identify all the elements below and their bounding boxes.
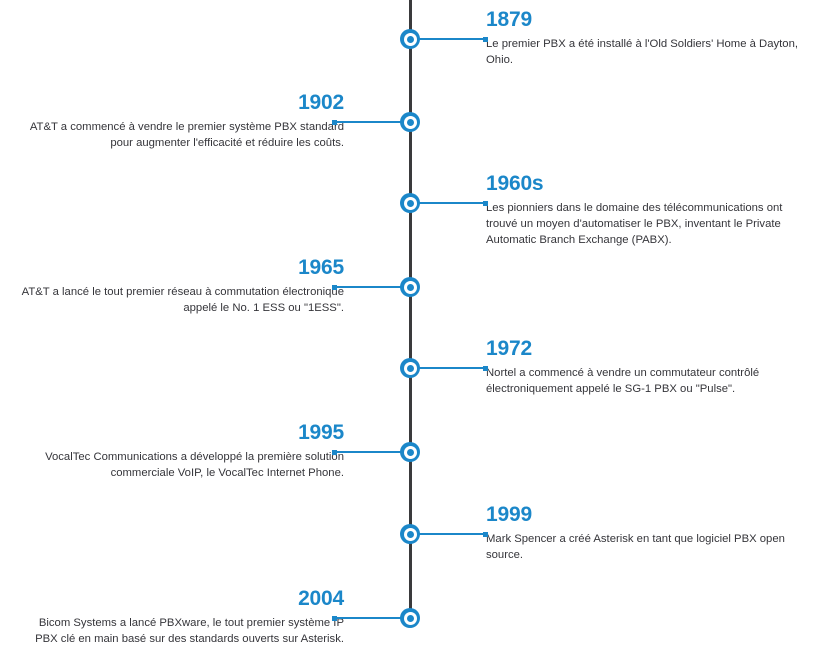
timeline-connector-1879 [410,38,488,40]
timeline-connector-2004 [332,617,410,619]
timeline-node-2004[interactable] [400,608,420,628]
node-center-dot-icon [407,200,414,207]
timeline-node-1965[interactable] [400,277,420,297]
entry-description: Bicom Systems a lancé PBXware, le tout p… [14,615,344,647]
node-ring-gap [404,612,417,625]
entry-year-label: 1879 [486,9,816,31]
connector-cap-icon [483,37,488,42]
timeline-entry-1960s: 1960sLes pionniers dans le domaine des t… [486,173,816,248]
node-ring-gap [404,116,417,129]
node-center-dot-icon [407,449,414,456]
connector-cap-icon [483,366,488,371]
timeline-connector-1960s [410,202,488,204]
node-center-dot-icon [407,119,414,126]
node-center-dot-icon [407,531,414,538]
timeline-connector-1965 [332,286,410,288]
entry-description: Nortel a commencé à vendre un commutateu… [486,365,816,397]
entry-description: Le premier PBX a été installé à l'Old So… [486,36,816,68]
connector-cap-icon [483,201,488,206]
entry-year-label: 2004 [14,588,344,610]
timeline-infographic: 1879Le premier PBX a été installé à l'Ol… [0,0,830,668]
entry-description: VocalTec Communications a développé la p… [14,449,344,481]
timeline-node-1999[interactable] [400,524,420,544]
timeline-connector-1902 [332,121,410,123]
entry-description: Mark Spencer a créé Asterisk en tant que… [486,531,816,563]
node-center-dot-icon [407,365,414,372]
connector-cap-icon [332,120,337,125]
node-ring-gap [404,197,417,210]
timeline-entry-2004: 2004Bicom Systems a lancé PBXware, le to… [14,588,344,647]
timeline-connector-1999 [410,533,488,535]
connector-cap-icon [332,285,337,290]
entry-year-label: 1965 [14,257,344,279]
timeline-node-1972[interactable] [400,358,420,378]
timeline-connector-1972 [410,367,488,369]
node-center-dot-icon [407,284,414,291]
connector-cap-icon [332,450,337,455]
entry-year-label: 1902 [14,92,344,114]
node-center-dot-icon [407,36,414,43]
timeline-connector-1995 [332,451,410,453]
timeline-entry-1879: 1879Le premier PBX a été installé à l'Ol… [486,9,816,68]
timeline-node-1879[interactable] [400,29,420,49]
entry-year-label: 1999 [486,504,816,526]
timeline-node-1995[interactable] [400,442,420,462]
node-ring-gap [404,362,417,375]
node-ring-gap [404,528,417,541]
entry-description: Les pionniers dans le domaine des téléco… [486,200,816,248]
timeline-entry-1902: 1902AT&T a commencé à vendre le premier … [14,92,344,151]
node-ring-gap [404,33,417,46]
node-ring-gap [404,281,417,294]
timeline-entry-1995: 1995VocalTec Communications a développé … [14,422,344,481]
timeline-entry-1972: 1972Nortel a commencé à vendre un commut… [486,338,816,397]
node-ring-gap [404,446,417,459]
timeline-entry-1965: 1965AT&T a lancé le tout premier réseau … [14,257,344,316]
timeline-entry-1999: 1999Mark Spencer a créé Asterisk en tant… [486,504,816,563]
entry-description: AT&T a commencé à vendre le premier syst… [14,119,344,151]
connector-cap-icon [332,616,337,621]
node-center-dot-icon [407,615,414,622]
entry-description: AT&T a lancé le tout premier réseau à co… [14,284,344,316]
connector-cap-icon [483,532,488,537]
entry-year-label: 1995 [14,422,344,444]
timeline-node-1960s[interactable] [400,193,420,213]
timeline-node-1902[interactable] [400,112,420,132]
entry-year-label: 1960s [486,173,816,195]
entry-year-label: 1972 [486,338,816,360]
